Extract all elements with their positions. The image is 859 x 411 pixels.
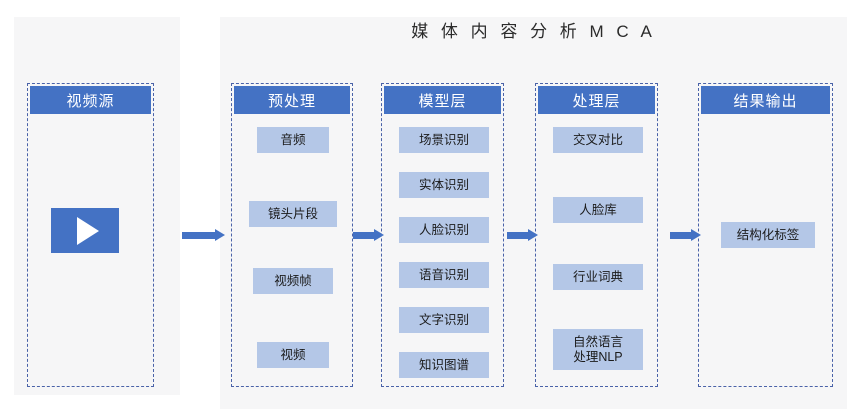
play-icon [77, 217, 99, 245]
chip-text-recognition[interactable]: 文字识别 [399, 307, 489, 333]
chip-entity-recognition[interactable]: 实体识别 [399, 172, 489, 198]
chip-cross-comparison[interactable]: 交叉对比 [553, 127, 643, 153]
chip-video-frame[interactable]: 视频帧 [253, 268, 333, 294]
stage-result-output: 结果输出 结构化标签 [698, 83, 833, 387]
arrow-head [215, 229, 225, 241]
chip-nlp[interactable]: 自然语言 处理NLP [553, 329, 643, 370]
chip-scene-recognition[interactable]: 场景识别 [399, 127, 489, 153]
arrow-head [528, 229, 538, 241]
stage-header-processing-layer: 处理层 [538, 86, 655, 114]
chip-shot-segment[interactable]: 镜头片段 [249, 201, 337, 227]
arrow-source-to-preprocessing [182, 229, 225, 241]
stage-header-video-source: 视频源 [30, 86, 151, 114]
arrow-head [374, 229, 384, 241]
arrow-shaft [182, 232, 215, 239]
arrow-shaft [353, 232, 374, 239]
chip-speech-recognition[interactable]: 语音识别 [399, 262, 489, 288]
chip-face-recognition[interactable]: 人脸识别 [399, 217, 489, 243]
stage-header-result-output: 结果输出 [701, 86, 830, 114]
stage-header-preprocessing: 预处理 [234, 86, 350, 114]
chip-audio[interactable]: 音频 [257, 127, 329, 153]
arrow-processing-to-output [670, 229, 701, 241]
stage-video-source: 视频源 [27, 83, 154, 387]
chip-video[interactable]: 视频 [257, 342, 329, 368]
chip-face-database[interactable]: 人脸库 [553, 197, 643, 223]
stage-model-layer: 模型层 场景识别 实体识别 人脸识别 语音识别 文字识别 知识图谱 [381, 83, 504, 387]
arrow-preprocessing-to-model [353, 229, 384, 241]
diagram-canvas: 媒 体 内 容 分 析 M C A 视频源 预处理 音频 镜头片段 视频帧 视频… [0, 0, 859, 411]
arrow-shaft [670, 232, 691, 239]
arrow-head [691, 229, 701, 241]
stage-processing-layer: 处理层 交叉对比 人脸库 行业词典 自然语言 处理NLP [535, 83, 658, 387]
chip-knowledge-graph[interactable]: 知识图谱 [399, 352, 489, 378]
stage-header-model-layer: 模型层 [384, 86, 501, 114]
arrow-shaft [507, 232, 528, 239]
arrow-model-to-processing [507, 229, 538, 241]
video-thumbnail[interactable] [51, 208, 119, 253]
chip-structured-tags[interactable]: 结构化标签 [721, 222, 815, 248]
stage-preprocessing: 预处理 音频 镜头片段 视频帧 视频 [231, 83, 353, 387]
chip-industry-dictionary[interactable]: 行业词典 [553, 264, 643, 290]
diagram-title: 媒 体 内 容 分 析 M C A [220, 17, 847, 42]
